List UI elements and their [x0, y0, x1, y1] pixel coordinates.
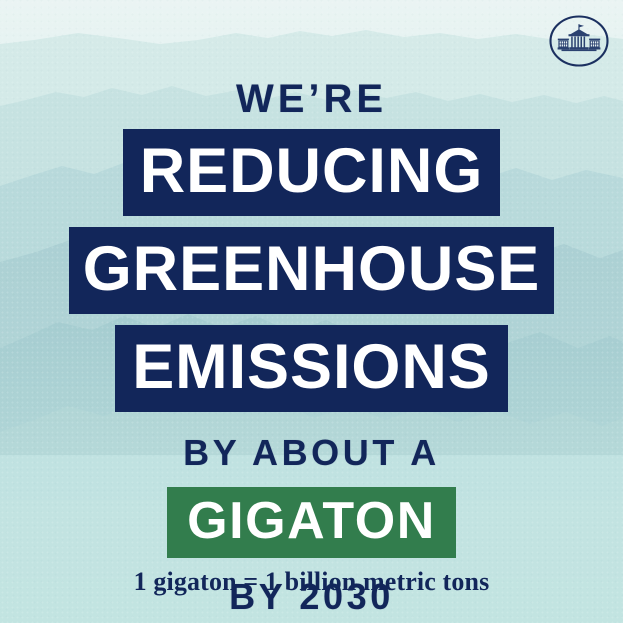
headline-line-greenhouse: GREENHOUSE	[69, 227, 555, 314]
headline-stack: WE’RE REDUCING GREENHOUSE EMISSIONS BY A…	[0, 0, 623, 615]
infographic-canvas: WE’RE REDUCING GREENHOUSE EMISSIONS BY A…	[0, 0, 623, 623]
headline-line-were: WE’RE	[236, 79, 387, 119]
headline-line-emissions: EMISSIONS	[115, 325, 508, 412]
headline-line-reducing: REDUCING	[123, 129, 501, 216]
headline-line-by-about-a: BY ABOUT A	[183, 435, 440, 471]
headline-line-gigaton: GIGATON	[167, 487, 456, 558]
footnote-definition: 1 gigaton = 1 billion metric tons	[0, 567, 623, 597]
